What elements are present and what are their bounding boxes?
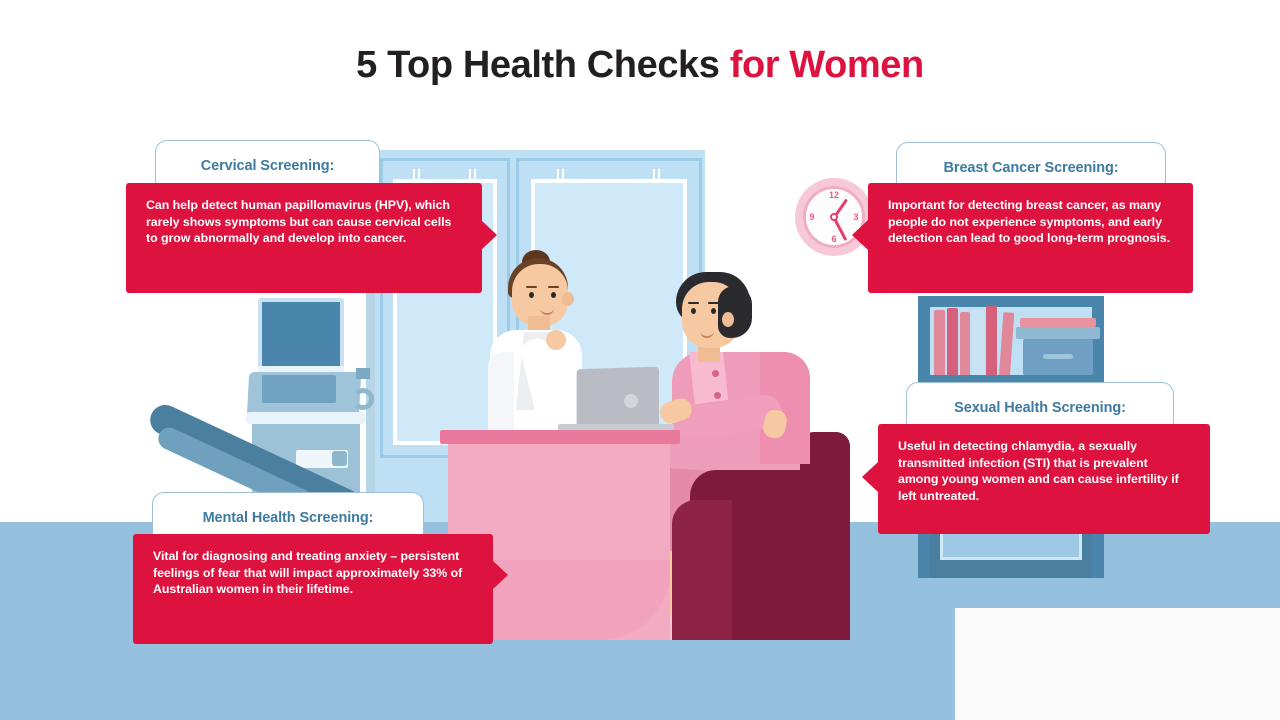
logo-panel: AUSTRALIAWIDE FIRST AID (955, 608, 1280, 720)
clock-numeral-9: 9 (806, 212, 818, 222)
card-pointer (492, 560, 508, 590)
title-main: 5 Top Health Checks (356, 44, 730, 86)
card-heading-text: Breast Cancer Screening: (944, 160, 1119, 176)
clock-numeral-12: 12 (828, 190, 840, 200)
card-body-text: Can help detect human papillomavirus (HP… (126, 183, 482, 293)
card-pointer (862, 462, 878, 492)
clock-numeral-6: 6 (828, 234, 840, 244)
card-heading-text: Cervical Screening: (201, 158, 335, 174)
card-body-text: Important for detecting breast cancer, a… (868, 183, 1193, 293)
card-heading-text: Sexual Health Screening: (954, 400, 1126, 416)
monitor-screen (258, 298, 344, 370)
card-pointer (481, 220, 497, 250)
card-heading-text: Mental Health Screening: (203, 510, 374, 526)
page-title: 5 Top Health Checks for Women (0, 44, 1280, 87)
title-accent: for Women (730, 44, 924, 86)
card-body-text: Useful in detecting chlamydia, a sexuall… (878, 424, 1210, 534)
infographic-canvas: 5 Top Health Checks for Women (0, 0, 1280, 720)
card-body-text: Vital for diagnosing and treating anxiet… (133, 534, 493, 644)
card-pointer (852, 220, 868, 250)
laptop (577, 367, 659, 432)
